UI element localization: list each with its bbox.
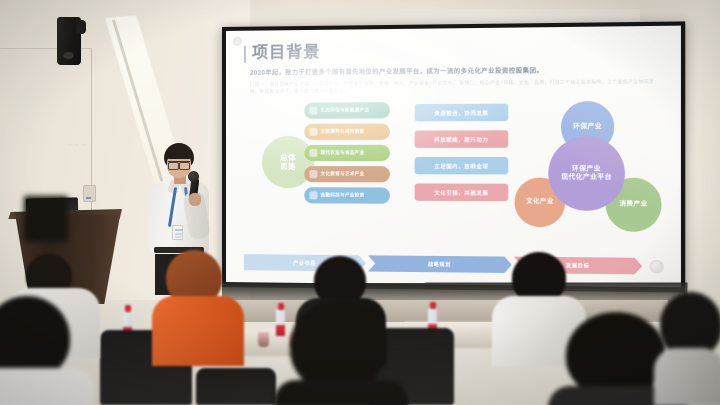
industry-pill[interactable]: 文旅康养与城市更新 xyxy=(304,123,390,139)
conference-chair xyxy=(196,368,276,405)
industry-pill-label: 生态环保与新能源产业 xyxy=(320,107,369,113)
slogan-box[interactable]: 科技赋能，提升动力 xyxy=(415,130,509,148)
foreground-shadow xyxy=(24,196,68,242)
check-icon xyxy=(309,149,317,157)
chart-icon xyxy=(309,191,317,199)
slogan-box[interactable]: 资源整合，协同发展 xyxy=(415,104,509,122)
projection-screen[interactable]: 项目背景 2020年起，致力于打造多个国有潜先地位的产业发展平台，成为一流的多元… xyxy=(222,21,685,292)
water-bottle xyxy=(276,303,286,341)
industry-pill-column: 生态环保与新能源产业 文旅康养与城市更新 现代农业与食品产业 文化教育 xyxy=(304,102,390,209)
industry-pill-label: 现代农业与食品产业 xyxy=(320,150,364,156)
glasses-icon xyxy=(168,161,190,167)
slide-subtitle: 2020年起，致力于打造多个国有潜先地位的产业发展平台，成为一流的多元化产业投资… xyxy=(250,64,664,76)
venn-circle-center: 环保产业 现代化产业平台 xyxy=(548,136,625,211)
bottle-label xyxy=(276,325,285,336)
wall-control-plate[interactable] xyxy=(83,185,96,202)
title-accent-bar xyxy=(244,45,246,62)
bottle-cap xyxy=(278,303,284,310)
presenter-hand xyxy=(189,193,201,206)
slide-title-row: 项目背景 xyxy=(244,40,664,62)
screen-surface: 项目背景 2020年起，致力于打造多个国有潜先地位的产业发展平台，成为一流的多元… xyxy=(226,26,681,288)
microphone-head xyxy=(188,171,199,182)
leaf-icon xyxy=(309,107,317,115)
industry-pill[interactable]: 现代农业与食品产业 xyxy=(304,145,390,161)
industry-pill[interactable]: 文化教育与艺术产业 xyxy=(304,166,390,182)
circle-logo xyxy=(650,259,664,273)
wall-panel-seam xyxy=(0,48,92,213)
chevron-step[interactable]: 战略规划 xyxy=(368,255,512,273)
presentation-room-scene: · · · 项目背景 2020年起，致力于打造多个国有潜先地位的产业发展平台，成… xyxy=(0,0,720,405)
attendee-head xyxy=(290,300,386,392)
wall-logo-text: · · · xyxy=(58,142,98,149)
process-chevron-strip: 产业布局 战略规划 发展目标 xyxy=(244,254,664,274)
slide-content: 项目背景 2020年起，致力于打造多个国有潜先地位的产业发展平台，成为一流的多元… xyxy=(226,26,681,288)
bottle-cap xyxy=(125,305,131,312)
industry-pill-label: 金融科技与产业投资 xyxy=(320,192,364,198)
slogan-box[interactable]: 立足国内，放眼全球 xyxy=(415,157,509,174)
wall-speaker-cone xyxy=(63,52,74,59)
venn-diagram: 环保产业 文化产业 消费产业 环保产业 现代化产业平台 xyxy=(512,97,678,253)
sun-icon xyxy=(309,128,317,136)
drink-cup xyxy=(258,332,269,347)
book-icon xyxy=(309,170,317,178)
industry-pill-label: 文化教育与艺术产业 xyxy=(320,171,364,177)
presenter-fringe xyxy=(165,148,193,159)
page-title: 项目背景 xyxy=(252,44,321,63)
bottle-cap xyxy=(430,302,436,309)
industry-pill[interactable]: 金融科技与产业投资 xyxy=(304,187,390,203)
slogan-box[interactable]: 文化引领，共建发展 xyxy=(415,183,509,201)
attendee-body xyxy=(152,296,244,366)
wall-speaker-bracket xyxy=(76,20,86,34)
presenter-id-badge xyxy=(172,225,183,240)
wall-plate-led xyxy=(86,197,91,199)
slogan-column: 资源整合，协同发展 科技赋能，提升动力 立足国内，放眼全球 文化引领，共建发展 xyxy=(415,104,509,211)
attendee-body xyxy=(274,380,408,405)
attendee-body xyxy=(0,368,94,405)
industry-pill[interactable]: 生态环保与新能源产业 xyxy=(304,102,390,119)
slide-diagram: 总体 思路 生态环保与新能源产业 文旅康养与城市更新 现代农业与食品产业 xyxy=(244,101,664,257)
attendee-body xyxy=(654,348,720,405)
slide-body-text: 门道一：依托现有产业资源——基础产业、文旅康养服务、金融、导入、产业基金+行业龙… xyxy=(250,78,664,95)
industry-pill-label: 文旅康养与城市更新 xyxy=(320,129,364,135)
